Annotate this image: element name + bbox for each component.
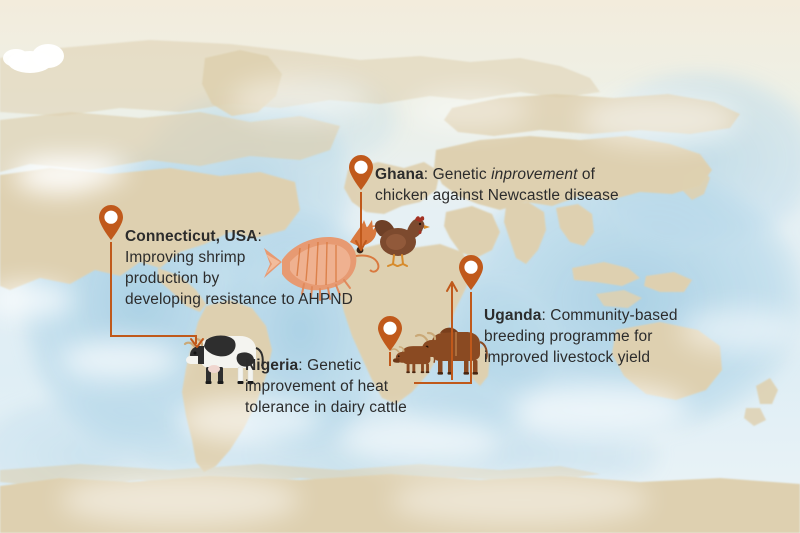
callout-nigeria-line-3: tolerance in dairy cattle <box>245 397 407 418</box>
callout-ghana-line-1: Ghana: Genetic inprovement of <box>375 164 619 185</box>
callout-connecticut-separator: : <box>258 228 262 245</box>
callout-uganda-line-3: improved livestock yield <box>484 347 678 368</box>
callout-uganda-pre: Community-based <box>546 307 678 324</box>
map-pin-icon-connecticut[interactable] <box>98 205 124 241</box>
callout-ghana-line-2: chicken against Newcastle disease <box>375 185 619 206</box>
callout-uganda-line-2: breeding programme for <box>484 326 678 347</box>
callout-nigeria-line-2: improvement of heat <box>245 376 407 397</box>
callout-ghana-emphasis: inprovement <box>491 166 577 183</box>
callout-uganda: Uganda: Community-based breeding program… <box>484 305 678 368</box>
map-pin-icon-nigeria[interactable] <box>377 316 403 352</box>
callout-nigeria-line-1: Nigeria: Genetic <box>245 355 407 376</box>
callout-connecticut-line-2: Improving shrimp <box>125 247 353 268</box>
callout-connecticut-place: Connecticut, USA <box>125 228 258 245</box>
callout-uganda-line-1: Uganda: Community-based <box>484 305 678 326</box>
callout-connecticut: Connecticut, USA: Improving shrimp produ… <box>125 226 353 310</box>
callout-ghana: Ghana: Genetic inprovement of chicken ag… <box>375 164 619 206</box>
callout-connecticut-line-4: developing resistance to AHPND <box>125 289 353 310</box>
annotation-overlay: Connecticut, USA: Improving shrimp produ… <box>0 0 800 533</box>
map-pin-icon-uganda[interactable] <box>458 255 484 291</box>
callout-nigeria: Nigeria: Genetic improvement of heat tol… <box>245 355 407 418</box>
callout-uganda-place: Uganda <box>484 307 541 324</box>
callout-connecticut-line-3: production by <box>125 268 353 289</box>
callout-nigeria-place: Nigeria <box>245 357 298 374</box>
map-pin-icon-ghana[interactable] <box>348 155 374 191</box>
callout-ghana-pre: Genetic <box>428 166 491 183</box>
callout-ghana-post: of <box>578 166 596 183</box>
callout-connecticut-line-1: Connecticut, USA: <box>125 226 353 247</box>
callout-nigeria-pre: Genetic <box>303 357 362 374</box>
infographic-map: Connecticut, USA: Improving shrimp produ… <box>0 0 800 533</box>
callout-ghana-place: Ghana <box>375 166 424 183</box>
